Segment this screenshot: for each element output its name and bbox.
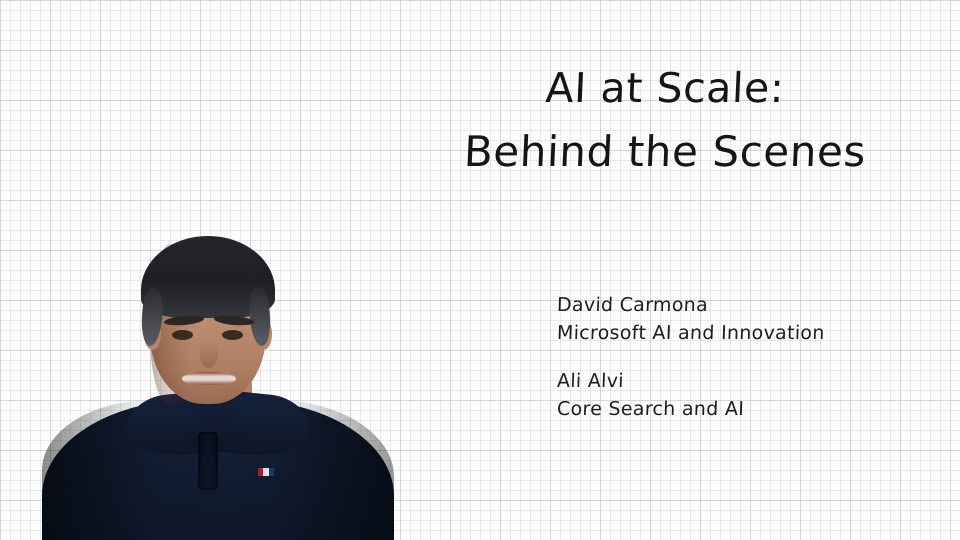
presenter-shirt-placket: [198, 432, 218, 490]
speaker-entry: Ali Alvi Core Search and AI: [557, 367, 825, 423]
speaker-entry: David Carmona Microsoft AI and Innovatio…: [557, 291, 825, 347]
speaker-name: David Carmona: [557, 291, 826, 319]
presenter-photo: [30, 236, 400, 540]
speaker-role: Microsoft AI and Innovation: [557, 319, 826, 347]
speaker-name: Ali Alvi: [557, 367, 826, 395]
title-line-1: AI at Scale:: [399, 56, 932, 120]
speaker-list: David Carmona Microsoft AI and Innovatio…: [557, 291, 825, 423]
title-line-2: Behind the Scenes: [399, 120, 932, 184]
speaker-role: Core Search and AI: [557, 395, 826, 423]
eye-right: [222, 330, 243, 340]
slide-title: AI at Scale: Behind the Scenes: [400, 56, 930, 184]
eye-left: [172, 330, 193, 340]
shirt-logo-icon: [258, 468, 274, 476]
nose: [200, 340, 218, 368]
mouth: [182, 372, 236, 385]
presentation-slide: AI at Scale: Behind the Scenes David Car…: [0, 0, 960, 540]
